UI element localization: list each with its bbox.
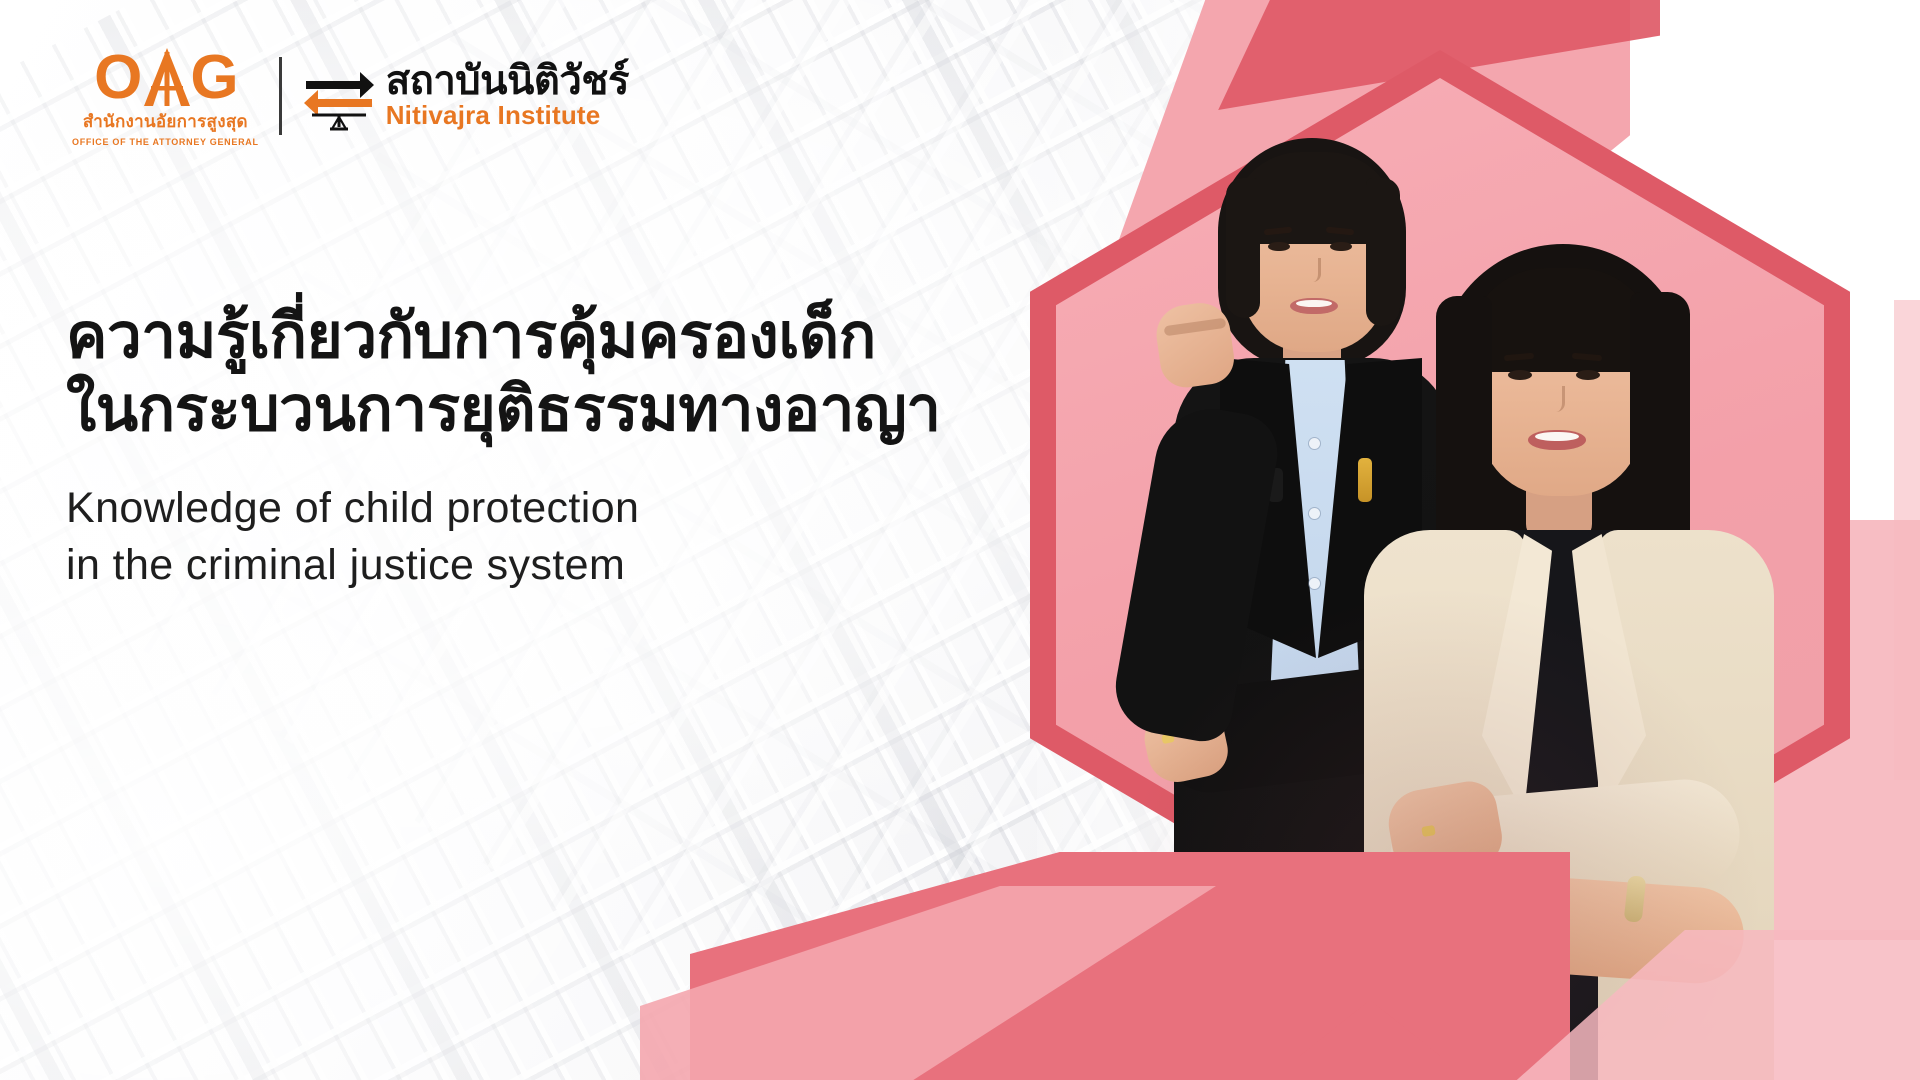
promo-banner: O G สำนักงานอัยการสูงสุด OFFICE OF THE A… bbox=[0, 0, 1920, 1080]
oag-letter-o: O bbox=[94, 49, 140, 106]
person-right bbox=[1330, 230, 1850, 1080]
oag-letter-g: G bbox=[190, 49, 236, 106]
oag-wordmark: O G bbox=[94, 44, 236, 106]
headline-block: ความรู้เกี่ยวกับการคุ้มครองเด็ก ในกระบวน… bbox=[66, 300, 1066, 594]
oag-scales-a-icon bbox=[140, 44, 194, 106]
oag-english-name: OFFICE OF THE ATTORNEY GENERAL bbox=[72, 137, 259, 147]
nitivajra-arrows-scale-icon bbox=[302, 59, 376, 133]
headline-thai-line-1: ความรู้เกี่ยวกับการคุ้มครองเด็ก bbox=[66, 300, 1066, 373]
oag-logo: O G สำนักงานอัยการสูงสุด OFFICE OF THE A… bbox=[72, 44, 259, 147]
headline-english-line-1: Knowledge of child protection bbox=[66, 480, 1066, 537]
nitivajra-logo: สถาบันนิติวัชร์ Nitivajra Institute bbox=[302, 59, 629, 133]
logo-row: O G สำนักงานอัยการสูงสุด OFFICE OF THE A… bbox=[72, 44, 629, 147]
nitivajra-english-name: Nitivajra Institute bbox=[386, 102, 629, 129]
nitivajra-thai-name: สถาบันนิติวัชร์ bbox=[386, 61, 629, 101]
people-photo-group bbox=[1030, 50, 1920, 1080]
headline-thai-line-2: ในกระบวนการยุติธรรมทางอาญา bbox=[66, 373, 1066, 446]
oag-thai-name: สำนักงานอัยการสูงสุด bbox=[83, 108, 248, 135]
headline-english-line-2: in the criminal justice system bbox=[66, 537, 1066, 594]
logo-divider bbox=[279, 57, 282, 135]
